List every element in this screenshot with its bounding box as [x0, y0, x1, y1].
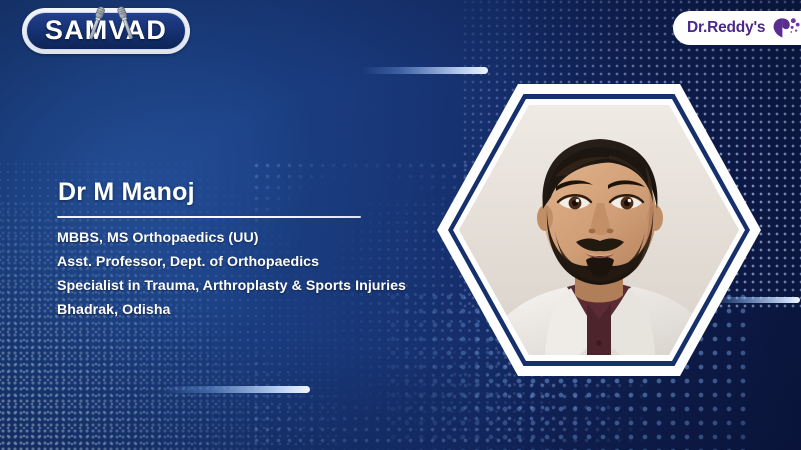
dr-reddys-logo[interactable]: Dr.Reddy's — [673, 11, 801, 45]
speaker-title-card: SAMVAD — [0, 0, 801, 450]
samvad-logo[interactable]: SAMVAD — [22, 8, 190, 54]
portrait-hexagon-frame — [437, 84, 761, 376]
accent-bar-bottom — [162, 386, 310, 393]
crossed-microphones-icon — [88, 4, 136, 50]
credential-line: Asst. Professor, Dept. of Orthopaedics — [57, 250, 477, 274]
doctor-name: Dr M Manoj — [58, 178, 195, 207]
credential-line: Specialist in Trauma, Arthroplasty & Spo… — [57, 274, 477, 298]
name-divider — [57, 216, 361, 218]
credentials-list: MBBS, MS Orthopaedics (UU) Asst. Profess… — [57, 226, 477, 322]
dr-reddys-logo-text: Dr.Reddy's — [687, 19, 765, 37]
accent-bar-top — [362, 67, 488, 74]
reddys-droplet-icon — [771, 16, 801, 40]
credential-line: MBBS, MS Orthopaedics (UU) — [57, 226, 477, 250]
credential-line: Bhadrak, Odisha — [57, 298, 477, 322]
